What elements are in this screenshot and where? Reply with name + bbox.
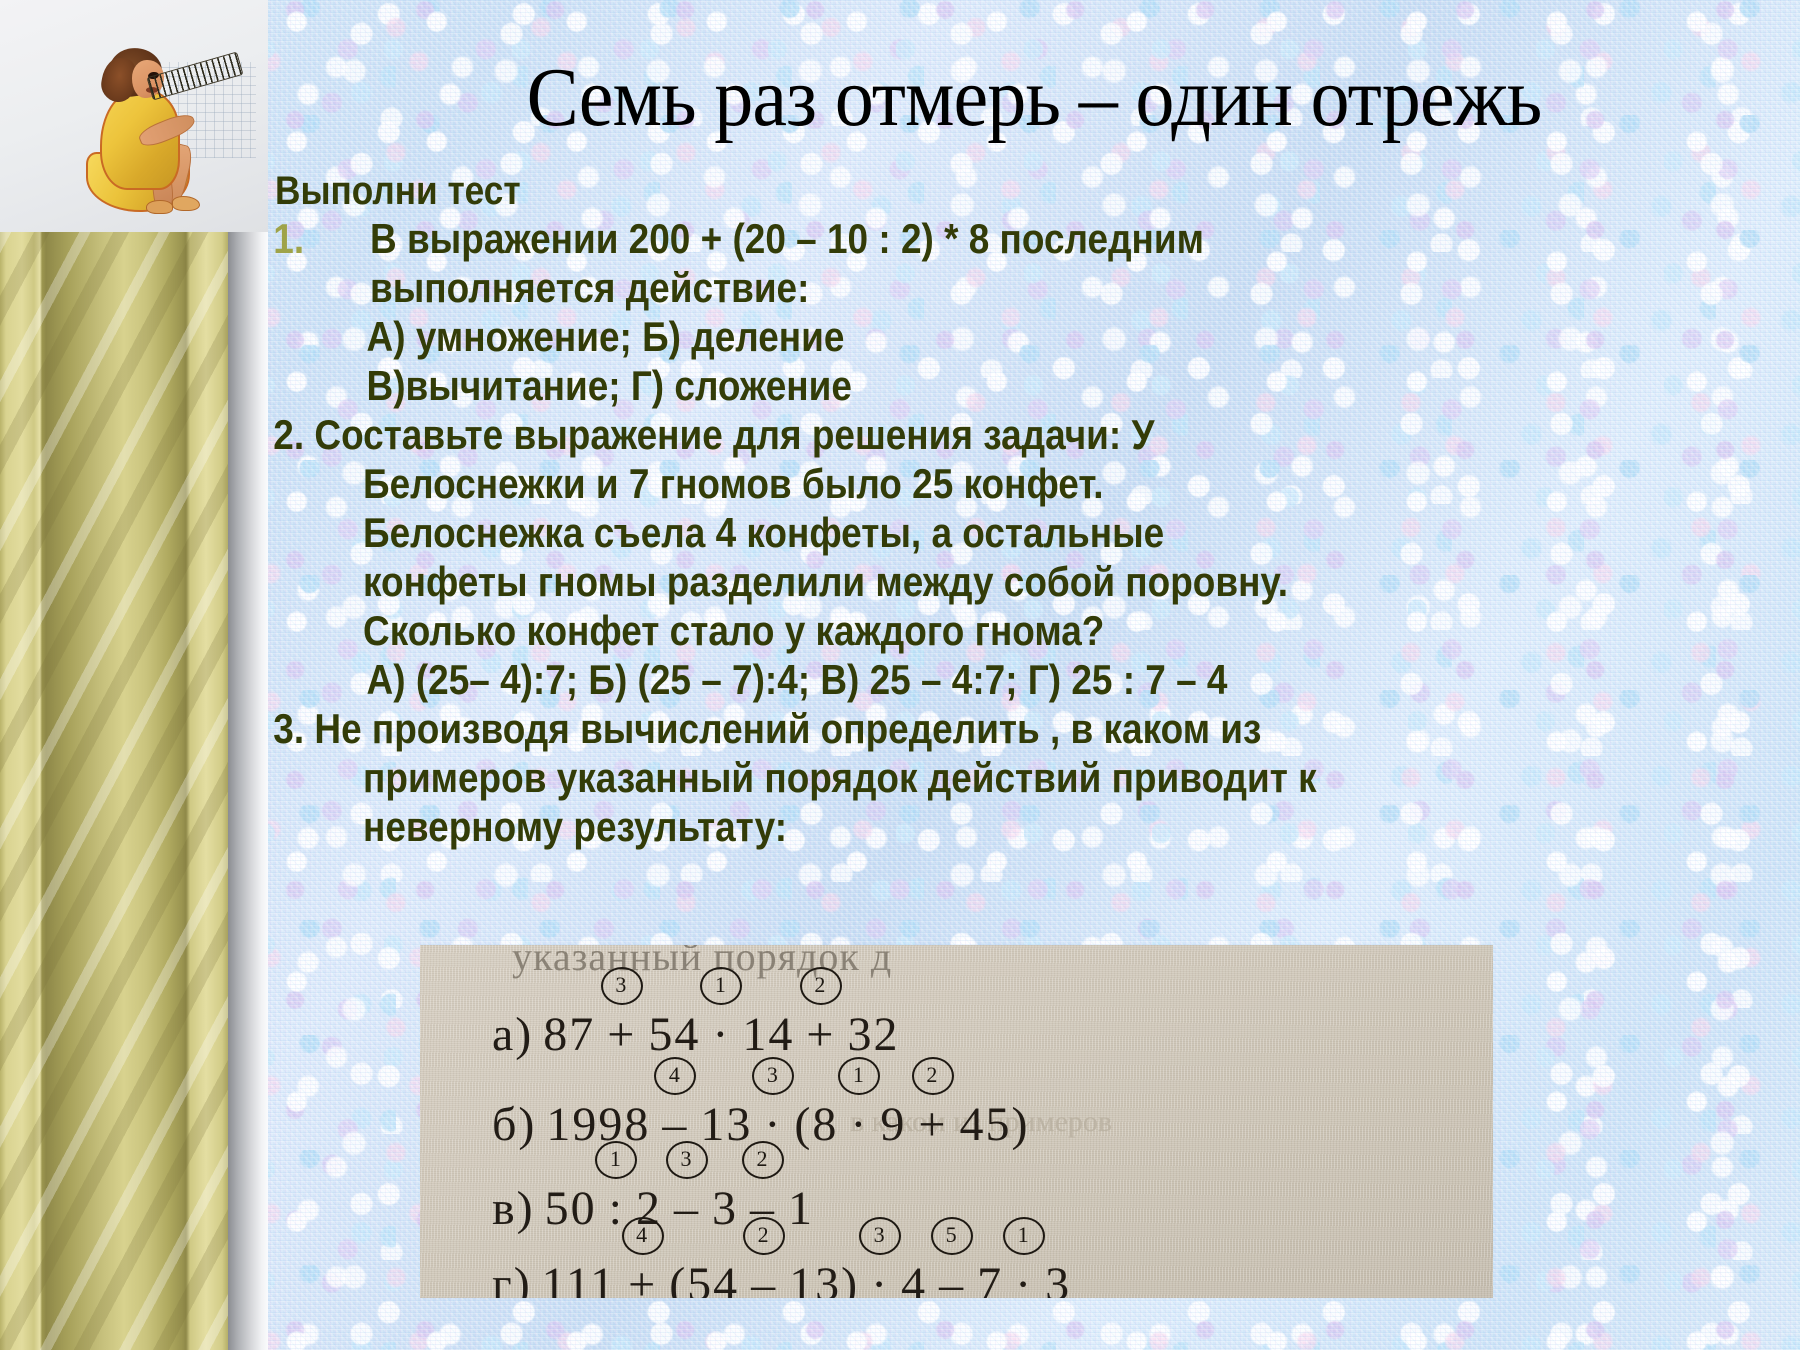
order-mark-circle: 1 [700, 967, 742, 1005]
girl-with-ruler-icon [62, 24, 222, 210]
scan-expression-label: в) [492, 1182, 535, 1235]
order-mark-circle: 5 [931, 1217, 973, 1255]
order-mark-circle: 4 [622, 1217, 664, 1255]
gold-column-shadow [228, 232, 268, 1350]
scan-number: 13 [700, 1097, 752, 1152]
scan-number: 13) [789, 1257, 859, 1298]
order-mark-circle: 4 [654, 1057, 696, 1095]
question-2-answers-row: А) (25– 4):7; Б) (25 – 7):4; В) 25 – 4:7… [268, 655, 1616, 704]
scan-expression-label: а) [492, 1008, 533, 1061]
test-body: Выполни тест 1. В выражении 200 + (20 – … [268, 168, 1800, 851]
order-mark-circle: 3 [666, 1141, 708, 1179]
clipart-photo-frame [0, 0, 268, 232]
section-heading: Выполни тест [268, 168, 1616, 214]
scan-operator-with-order-mark: +2 [918, 1097, 947, 1152]
order-mark-circle: 2 [743, 1217, 785, 1255]
slide-content: Семь раз отмерь – один отрежь Выполни те… [268, 0, 1800, 1350]
scan-operator-with-order-mark: –2 [751, 1257, 777, 1298]
scan-expression-row: г)111+4(54–213)·34–57·13 [492, 1257, 1083, 1298]
scan-number: 50 [545, 1181, 597, 1236]
question-2-line-1: 2. Составьте выражение для решения задач… [268, 410, 1616, 459]
scan-number: 111 [542, 1257, 616, 1298]
scan-number: 32 [847, 1007, 899, 1062]
scan-number: (8 [794, 1097, 838, 1152]
scan-number: 1 [788, 1181, 814, 1236]
scan-number: 4 [901, 1257, 927, 1298]
scan-number: 9 [880, 1097, 906, 1152]
order-mark-circle: 1 [595, 1141, 637, 1179]
scan-number: 14 [742, 1007, 794, 1062]
question-2-line-5: Сколько конфет стало у каждого гнома? [268, 606, 1616, 655]
question-3-line-2: примеров указанный порядок действий прив… [268, 753, 1616, 802]
scanned-textbook-image: указанный порядок д в каком из примеров … [420, 945, 1493, 1298]
scan-number: (54 [669, 1257, 739, 1298]
question-1-number: 1. [268, 214, 358, 263]
scan-number: 54 [648, 1007, 700, 1062]
order-mark-circle: 1 [838, 1057, 880, 1095]
question-1-answers-row-1: А) умножение; Б) деление [268, 312, 1616, 361]
scan-operator-with-order-mark: ·1 [1015, 1257, 1033, 1298]
order-mark-circle: 3 [752, 1057, 794, 1095]
scan-number: 87 [543, 1007, 595, 1062]
question-1-line-1: В выражении 200 + (20 – 10 : 2) * 8 посл… [370, 214, 1628, 263]
scan-expression-label: г) [492, 1258, 532, 1298]
question-2-line-2: Белоснежки и 7 гномов было 25 конфет. [268, 459, 1616, 508]
slide-canvas: Семь раз отмерь – один отрежь Выполни те… [0, 0, 1800, 1350]
question-3-line-3: неверному результату: [268, 802, 1616, 851]
order-mark-circle: 3 [601, 967, 643, 1005]
order-mark-circle: 2 [742, 1141, 784, 1179]
scan-operator-with-order-mark: ·1 [712, 1007, 730, 1062]
order-mark-circle: 2 [912, 1057, 954, 1095]
scan-operator-with-order-mark: +3 [607, 1007, 636, 1062]
scan-number: 7 [977, 1257, 1003, 1298]
scan-operator-with-order-mark: ·3 [871, 1257, 889, 1298]
scan-operator-with-order-mark: –5 [939, 1257, 965, 1298]
question-1-line-2: выполняется действие: [370, 263, 1628, 312]
order-mark-circle: 2 [800, 967, 842, 1005]
question-2-line-4: конфеты гномы разделили между собой поро… [268, 557, 1616, 606]
order-mark-circle: 1 [1003, 1217, 1045, 1255]
question-1-answers-row-2: В)вычитание; Г) сложение [268, 361, 1616, 410]
scan-expression-label: б) [492, 1098, 536, 1151]
scan-operator-with-order-mark: +4 [628, 1257, 657, 1298]
scan-expression-row: а)87+354·114+232 [492, 1007, 911, 1062]
question-3-line-1: 3. Не производя вычислений определить , … [268, 704, 1616, 753]
order-mark-circle: 3 [859, 1217, 901, 1255]
scan-number: 3 [712, 1181, 738, 1236]
scan-operator-with-order-mark: –3 [674, 1181, 700, 1236]
gold-column-graphic [0, 232, 228, 1350]
question-2-line-3: Белоснежка съела 4 конфеты, а остальные [268, 508, 1616, 557]
question-1: 1. В выражении 200 + (20 – 10 : 2) * 8 п… [268, 214, 1800, 312]
scan-operator-with-order-mark: :1 [609, 1181, 624, 1236]
scan-operator-with-order-mark: +2 [806, 1007, 835, 1062]
scan-number: 1998 [546, 1097, 650, 1152]
page-title: Семь раз отмерь – один отрежь [322, 52, 1747, 144]
scan-operator-with-order-mark: ·1 [850, 1097, 868, 1152]
scan-number: 45) [959, 1097, 1029, 1152]
left-decorative-strip [0, 0, 268, 1350]
scan-number: 3 [1045, 1257, 1071, 1298]
